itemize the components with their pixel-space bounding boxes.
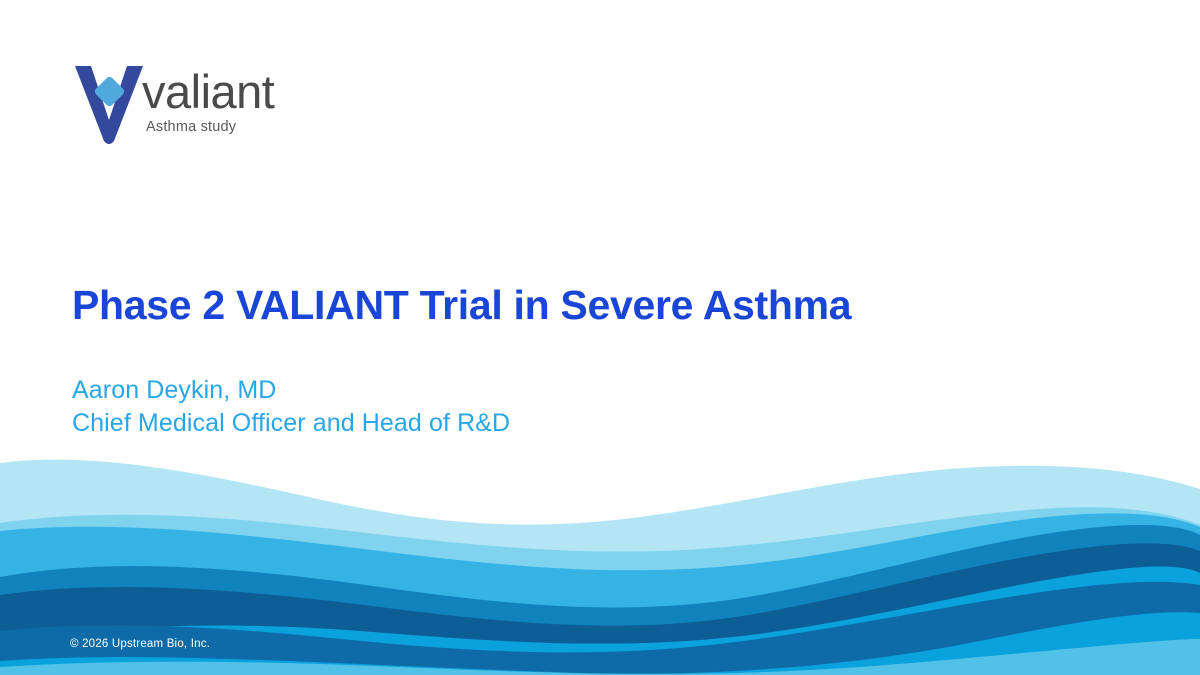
copyright-footer: © 2026 Upstream Bio, Inc. bbox=[70, 638, 210, 650]
page-title: Phase 2 VALIANT Trial in Severe Asthma bbox=[72, 282, 851, 329]
presenter-block: Aaron Deykin, MD Chief Medical Officer a… bbox=[72, 374, 510, 440]
presenter-name: Aaron Deykin, MD bbox=[72, 374, 510, 407]
valiant-logo: valiant Asthma study bbox=[72, 62, 292, 152]
logo-wordmark: valiant bbox=[142, 68, 274, 115]
logo-tagline: Asthma study bbox=[146, 120, 236, 135]
slide-canvas: valiant Asthma study Phase 2 VALIANT Tri… bbox=[0, 0, 1200, 675]
presenter-role: Chief Medical Officer and Head of R&D bbox=[72, 407, 510, 440]
valiant-chevron-icon bbox=[72, 62, 146, 146]
